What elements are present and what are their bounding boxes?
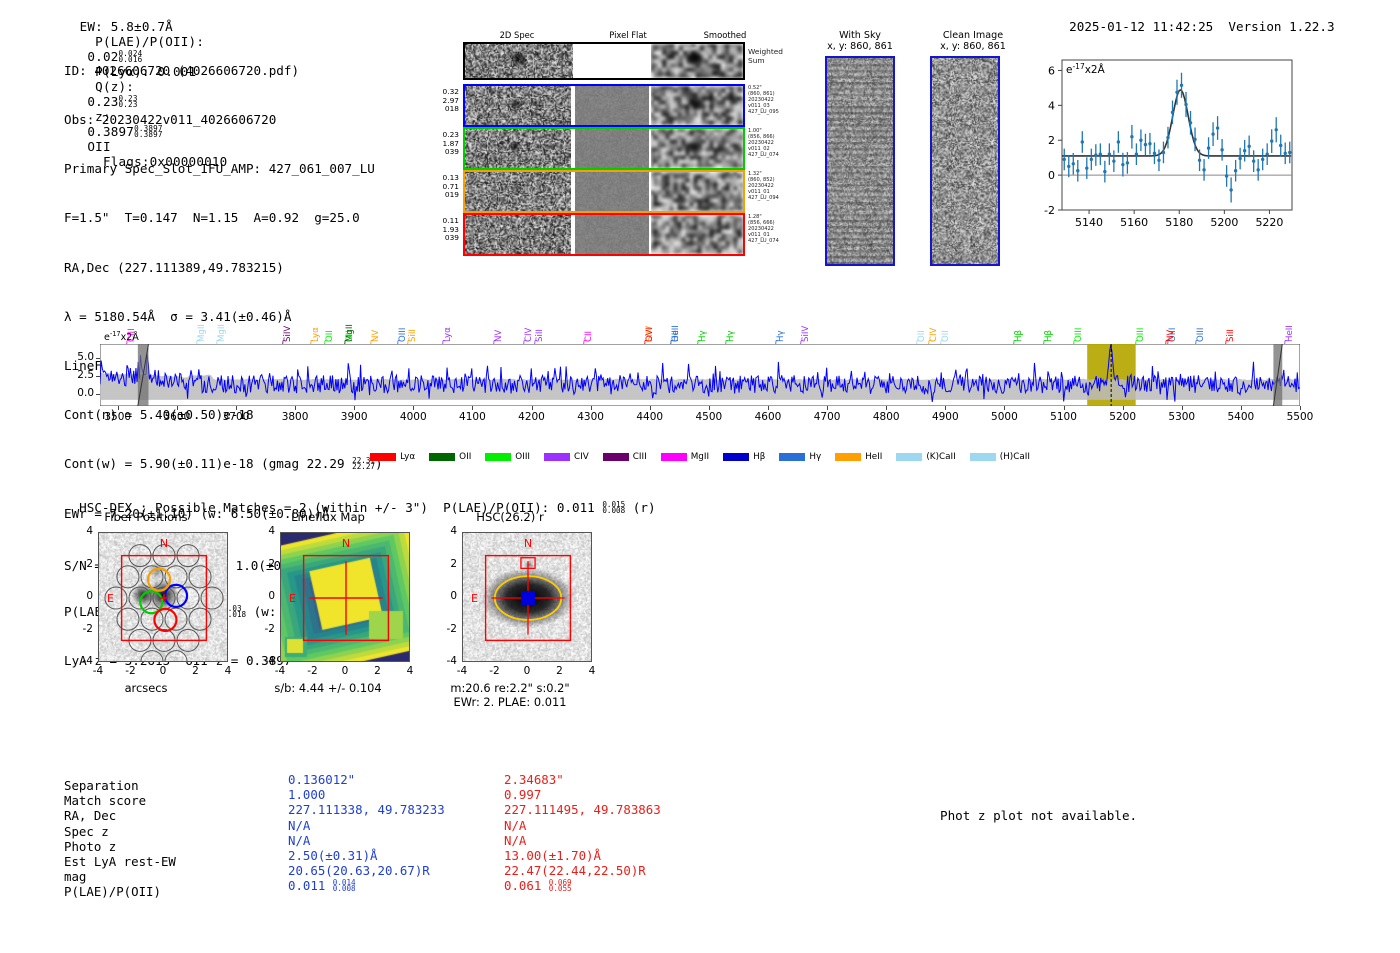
emission-line-label: OIII: [1196, 318, 1206, 342]
legend-label: CIII: [633, 452, 647, 462]
legend-item: OII: [429, 452, 471, 462]
match-row-blue: 20.65(20.63,20.67)R: [288, 863, 430, 878]
spectrum-xtick: 4600: [750, 411, 786, 423]
match-row-blue: 2.50(±0.31)Å: [288, 848, 378, 863]
panel-xlabel: s/b: 4.44 +/- 0.104: [232, 681, 424, 695]
match-plae-label: P(LAE)/P(OII): [64, 884, 161, 899]
info-primary-spec: Primary Spec_Slot_IFU_AMP: 427_061_007_L…: [64, 161, 383, 177]
svg-text:2: 2: [1048, 134, 1055, 147]
match-row-label: Match score: [64, 793, 146, 808]
spectrum-xtick-mark: [1182, 406, 1183, 410]
weighted-sum-strip: [463, 42, 745, 80]
timestamp: 2025-01-12 11:42:25: [1069, 19, 1213, 34]
emission-line-label: HeII: [671, 318, 681, 342]
emission-line-label: OII: [917, 318, 927, 342]
panel-xtick: 2: [546, 665, 574, 677]
spectrum-xtick: 4200: [514, 411, 550, 423]
legend-swatch: [544, 453, 570, 461]
match-plae-blue-cell: 0.011 0.0140.008: [288, 878, 356, 893]
match-row-red: 0.997: [504, 787, 541, 802]
svg-text:5180: 5180: [1165, 216, 1193, 229]
photz-note: Phot z plot not available.: [940, 808, 1137, 823]
panel-xtick: 0: [331, 665, 359, 677]
panel-ytick: 2: [428, 558, 457, 570]
panel-ytick: -4: [428, 655, 457, 667]
spectrum-xtick: 5300: [1164, 411, 1200, 423]
emission-line-legend: LyαOIIOIIICIVCIIIMgIIHβHγHeII(K)CaII(H)C…: [0, 452, 1400, 462]
panel-ytick: -2: [246, 623, 275, 635]
emission-line-label: CIV: [929, 318, 939, 342]
match-row-red: 227.111495, 49.783863: [504, 802, 661, 817]
emission-line-label: Hβ: [1044, 318, 1054, 342]
legend-label: Hγ: [809, 452, 821, 462]
spectrum-ytick-mark: [96, 376, 100, 377]
fiber-right-meta: 0.52"(860, 861)20230422v011_03427_LU_095: [748, 85, 796, 115]
match-row-red: 22.47(22.44,22.50)R: [504, 863, 646, 878]
panel-title: HSC(26.2) r: [428, 510, 592, 524]
with-sky-image: [825, 56, 895, 266]
emission-line-label: NV: [371, 318, 381, 342]
match-row-label: Photo z: [64, 839, 116, 854]
emission-line-label: CIV: [524, 318, 534, 342]
panel-sublabel: EWr: 2. PLAE: 0.011: [414, 695, 606, 709]
with-sky-title: With Sky: [810, 30, 910, 41]
panel-title: Fiber Positions: [64, 510, 228, 524]
spectrum-xtick: 4000: [395, 411, 431, 423]
match-row-blue: N/A: [288, 833, 310, 848]
fiber-cutout-row: [463, 84, 745, 127]
legend-label: Hβ: [753, 452, 765, 462]
panel-image: NE: [98, 532, 228, 662]
panel-ytick: 2: [64, 558, 93, 570]
legend-swatch: [485, 453, 511, 461]
spectrum-svg: [100, 344, 1300, 406]
emission-line-label: NV: [1166, 318, 1176, 342]
fiber-left-stats: 0.231.87039: [425, 131, 459, 157]
montage-col-title-smoothed: Smoothed: [680, 30, 770, 40]
fiber-left-stats: 0.111.93039: [425, 217, 459, 243]
clean-image-subtitle: x, y: 860, 861: [918, 41, 1028, 52]
panel-image: NE: [280, 532, 410, 662]
fiber-right-meta: 1.00"(856, 866)20230422v011_02427_LU_074: [748, 128, 796, 158]
spectrum-xtick: 4400: [632, 411, 668, 423]
spectrum-xtick-mark: [886, 406, 887, 410]
emission-line-label: OII: [941, 318, 951, 342]
panel-xlabel: m:20.6 re:2.2" s:0.2": [414, 681, 606, 695]
legend-label: Lyα: [400, 452, 415, 462]
emission-line-label: HeII: [1285, 318, 1295, 342]
match-row-label: Spec z: [64, 824, 109, 839]
clean-image: [930, 56, 1000, 266]
panel-xtick: 4: [396, 665, 424, 677]
panel-xtick: -2: [117, 665, 145, 677]
legend-swatch: [896, 453, 922, 461]
spectrum-xtick: 4800: [868, 411, 904, 423]
emission-line-label: Hγ: [698, 318, 708, 342]
legend-item: MgII: [661, 452, 709, 462]
legend-swatch: [970, 453, 996, 461]
panel-xlabel: arcsecs: [50, 681, 242, 695]
spectrum-xtick-mark: [827, 406, 828, 410]
emission-line-label: SiIV: [801, 318, 811, 342]
spectrum-ytick: 5.0: [60, 351, 94, 363]
match-plae-red: 0.061: [504, 878, 549, 893]
weighted-sum-label-2: Sum: [748, 57, 783, 66]
panel-xtick: 2: [364, 665, 392, 677]
match-row-blue: 1.000: [288, 787, 325, 802]
legend-swatch: [835, 453, 861, 461]
spectrum-xtick: 5500: [1282, 411, 1318, 423]
panel-xtick: 0: [149, 665, 177, 677]
spectrum-xtick: 5000: [986, 411, 1022, 423]
legend-swatch: [661, 453, 687, 461]
spectrum-xtick: 4700: [809, 411, 845, 423]
spectrum-xtick: 3900: [336, 411, 372, 423]
emission-line-label: OVI: [645, 318, 655, 342]
emission-line-label: Hγ: [776, 318, 786, 342]
match-plae-red-cell: 0.061 0.0690.055: [504, 878, 572, 893]
spectrum-xtick-mark: [1123, 406, 1124, 410]
panel-title: Lineflux Map: [246, 510, 410, 524]
montage-col-title-2dspec: 2D Spec: [462, 30, 572, 40]
spectrum-xtick-mark: [1004, 406, 1005, 410]
spectrum-xtick-mark: [591, 406, 592, 410]
spectrum-ytick: 2.5: [60, 369, 94, 381]
emission-line-label: MgII: [217, 318, 227, 342]
legend-item: (K)CaII: [896, 452, 955, 462]
panel-ytick: 4: [246, 525, 275, 537]
svg-text:E: E: [289, 592, 296, 605]
panel-ytick: 0: [64, 590, 93, 602]
spectrum-xtick: 3700: [218, 411, 254, 423]
panel-ytick: -2: [428, 623, 457, 635]
spectrum-axes: [100, 344, 1300, 406]
cutout-panels: With Sky x, y: 860, 861 Clean Image x, y…: [800, 30, 1030, 250]
panel-ytick: 4: [64, 525, 93, 537]
fiber-right-meta: 1.28"(856, 666)20230422v011_01427_LU_074: [748, 214, 796, 244]
spectrum-xtick-mark: [1064, 406, 1065, 410]
match-row-red: 13.00(±1.70)Å: [504, 848, 601, 863]
spectrum-xtick-mark: [236, 406, 237, 410]
legend-swatch: [370, 453, 396, 461]
with-sky-subtitle: x, y: 860, 861: [810, 41, 910, 52]
spectrum-ytick: 0.0: [60, 387, 94, 399]
match-row-blue: 227.111338, 49.783233: [288, 802, 445, 817]
match-row-blue: 0.136012": [288, 772, 355, 787]
legend-item: (H)CaII: [970, 452, 1030, 462]
spectrum-xtick: 3800: [277, 411, 313, 423]
panel-ytick: 0: [428, 590, 457, 602]
version: Version 1.22.3: [1228, 19, 1334, 34]
legend-item: Lyα: [370, 452, 415, 462]
montage-col-title-pixelflat: Pixel Flat: [578, 30, 678, 40]
svg-text:6: 6: [1048, 64, 1055, 77]
spectrum-xtick-mark: [1241, 406, 1242, 410]
zoom-plot-svg: 51405160518052005220-20246e-17x2Å: [1022, 50, 1300, 240]
legend-label: (K)CaII: [926, 452, 955, 462]
legend-label: HeII: [865, 452, 882, 462]
spectrum-xtick: 5200: [1105, 411, 1141, 423]
panel-xtick: 4: [214, 665, 242, 677]
legend-label: OIII: [515, 452, 530, 462]
legend-swatch: [429, 453, 455, 461]
fiber-left-stats: 0.130.71019: [425, 174, 459, 200]
legend-swatch: [603, 453, 629, 461]
svg-text:N: N: [524, 537, 532, 550]
svg-text:-2: -2: [1044, 204, 1055, 217]
spectrum-xtick-mark: [354, 406, 355, 410]
legend-label: OII: [459, 452, 471, 462]
svg-text:0: 0: [1048, 169, 1055, 182]
panel-image: NE: [462, 532, 592, 662]
panel-ytick: -2: [64, 623, 93, 635]
panel-ytick: 2: [246, 558, 275, 570]
emission-line-label: SiII: [535, 318, 545, 342]
legend-item: CIII: [603, 452, 647, 462]
emission-line-zoom-plot: 51405160518052005220-20246e-17x2Å: [1022, 50, 1300, 240]
emission-line-label: Lyα: [443, 318, 453, 342]
spectrum-xtick-mark: [413, 406, 414, 410]
info-id: ID: 4026606720 (4026606720.pdf): [64, 63, 383, 79]
panel-ytick: 0: [246, 590, 275, 602]
svg-text:e-17x2Å: e-17x2Å: [1066, 62, 1106, 76]
legend-label: MgII: [691, 452, 709, 462]
spectrum-xtick: 5100: [1046, 411, 1082, 423]
panel-ytick: -4: [64, 655, 93, 667]
panel-xtick: 0: [513, 665, 541, 677]
legend-label: (H)CaII: [1000, 452, 1030, 462]
spectrum-xtick-mark: [472, 406, 473, 410]
emission-line-label: SiII: [408, 318, 418, 342]
fiber-cutout-row: [463, 127, 745, 170]
emission-line-label: Hγ: [726, 318, 736, 342]
spectrum-xtick: 4100: [454, 411, 490, 423]
legend-swatch: [779, 453, 805, 461]
spectrum-xtick: 3600: [159, 411, 195, 423]
spectrum-units-label: e-17x2Å: [104, 330, 139, 343]
emission-line-label: CII: [584, 318, 594, 342]
svg-text:5140: 5140: [1075, 216, 1103, 229]
clean-image-title: Clean Image: [918, 30, 1028, 41]
spectrum-xtick: 4300: [573, 411, 609, 423]
svg-text:5160: 5160: [1120, 216, 1148, 229]
match-row-label: mag: [64, 869, 86, 884]
panel-xtick: 4: [578, 665, 606, 677]
match-row-red: N/A: [504, 833, 526, 848]
info-seeing: F=1.5" T=0.147 N=1.15 A=0.92 g=25.0: [64, 210, 383, 226]
spectrum-xtick-mark: [295, 406, 296, 410]
match-row-label: Est LyA rest-EW: [64, 854, 176, 869]
emission-line-label: Lyα: [311, 318, 321, 342]
match-plae-blue: 0.011: [288, 878, 333, 893]
full-spectrum-panel: CIII{MgII{MgII{SiIV{Lyα{OII{OII{MgII{NV{…: [60, 272, 1310, 452]
emission-line-label: OIII: [398, 318, 408, 342]
fiber-cutout-row: [463, 213, 745, 256]
emission-line-label: SiII: [1226, 318, 1236, 342]
spectrum-xtick-mark: [1300, 406, 1301, 410]
svg-text:N: N: [160, 537, 168, 550]
legend-item: HeII: [835, 452, 882, 462]
twod-spec-montage: 2D Spec Pixel Flat Smoothed Weighted Sum…: [430, 30, 790, 250]
spectrum-xtick: 4900: [927, 411, 963, 423]
legend-label: CIV: [574, 452, 589, 462]
spectrum-xtick-mark: [709, 406, 710, 410]
svg-text:E: E: [107, 592, 114, 605]
spectrum-xtick-mark: [650, 406, 651, 410]
timestamp-version: 2025-01-12 11:42:25 Version 1.22.3: [1054, 4, 1335, 34]
fiber-cutout-row: [463, 170, 745, 213]
svg-text:5200: 5200: [1210, 216, 1238, 229]
match-row-red: N/A: [504, 818, 526, 833]
legend-item: Hγ: [779, 452, 821, 462]
plae-uncertainty: 0.0140.008: [333, 880, 356, 893]
legend-item: CIV: [544, 452, 589, 462]
panel-xtick: -2: [481, 665, 509, 677]
fiber-left-stats: 0.322.97018: [425, 88, 459, 114]
panel-ytick: -4: [246, 655, 275, 667]
spectrum-xtick-mark: [118, 406, 119, 410]
match-row-red: 2.34683": [504, 772, 564, 787]
emission-line-label: Hβ: [1014, 318, 1024, 342]
legend-item: OIII: [485, 452, 530, 462]
panel-ytick: 4: [428, 525, 457, 537]
emission-line-label: OII: [325, 318, 335, 342]
emission-line-label: MgII: [345, 318, 355, 342]
legend-swatch: [723, 453, 749, 461]
panel-xtick: 2: [182, 665, 210, 677]
spectrum-ytick-mark: [96, 358, 100, 359]
match-row-blue: N/A: [288, 818, 310, 833]
match-row-label: RA, Dec: [64, 808, 116, 823]
spectrum-xtick: 3500: [100, 411, 136, 423]
svg-text:5220: 5220: [1255, 216, 1283, 229]
spectrum-xtick-mark: [768, 406, 769, 410]
emission-line-label: OIII: [1136, 318, 1146, 342]
spectrum-xtick: 4500: [691, 411, 727, 423]
emission-line-label: NV: [494, 318, 504, 342]
fiber-right-meta: 1.32"(860, 852)20230422v011_01427_LU_094: [748, 171, 796, 201]
emission-line-label: SiIV: [283, 318, 293, 342]
svg-text:E: E: [471, 592, 478, 605]
image-panels: Fiber PositionsNE-4-4-2-2002244arcsecsLi…: [56, 510, 676, 730]
spectrum-xtick-mark: [177, 406, 178, 410]
panel-xtick: -2: [299, 665, 327, 677]
spectrum-xtick-mark: [532, 406, 533, 410]
svg-text:N: N: [342, 537, 350, 550]
spectrum-xtick-mark: [945, 406, 946, 410]
match-row-label: Separation: [64, 778, 139, 793]
spectrum-ytick-mark: [96, 394, 100, 395]
emission-line-label: OIII: [1074, 318, 1084, 342]
legend-item: Hβ: [723, 452, 765, 462]
info-obs: Obs: 20230422v011_4026606720: [64, 112, 383, 128]
plae-uncertainty: 0.0690.055: [549, 880, 572, 893]
spectrum-xtick: 5400: [1223, 411, 1259, 423]
emission-line-label: MgII: [197, 318, 207, 342]
svg-text:4: 4: [1048, 99, 1055, 112]
